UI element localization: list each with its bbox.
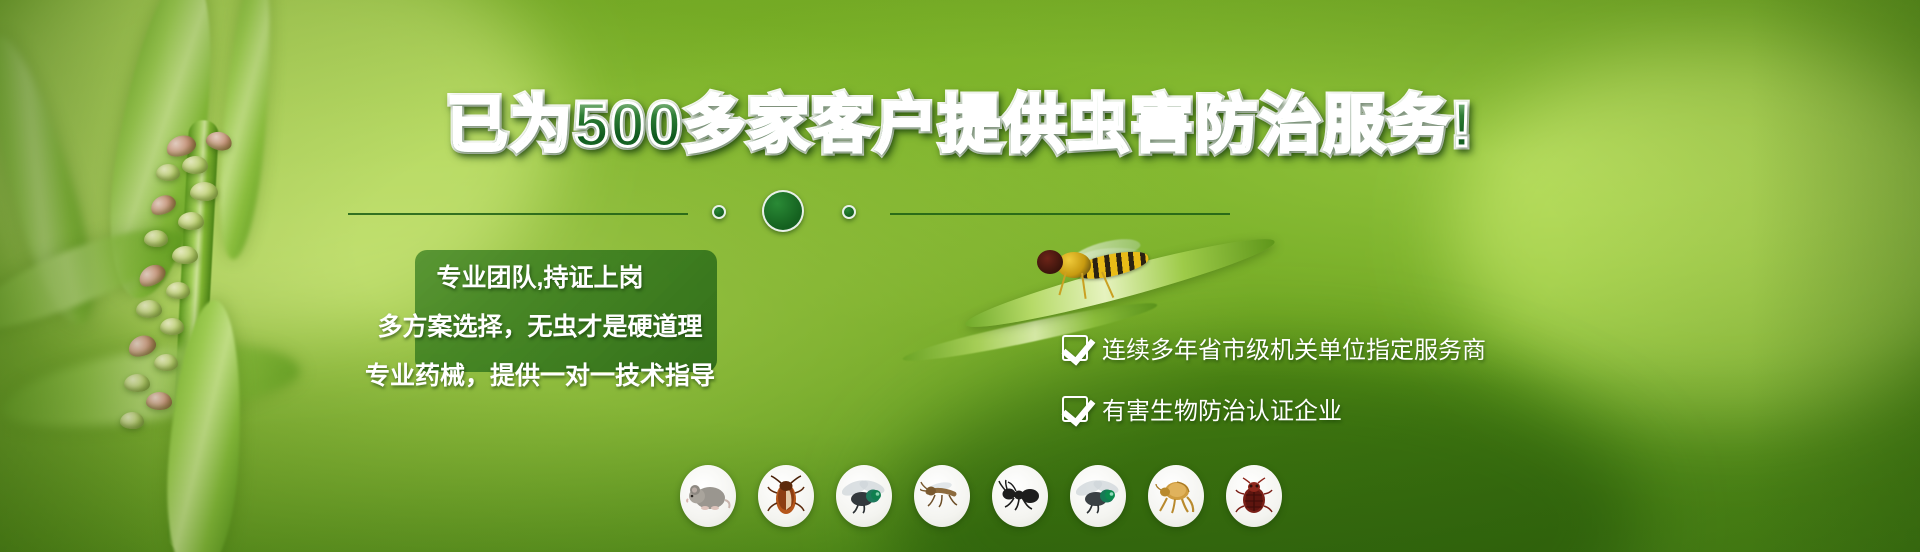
credential-text-2: 有害生物防治认证企业: [1102, 391, 1342, 426]
credentials-list: 连续多年省市级机关单位指定服务商 有害生物防治认证企业: [1062, 330, 1486, 452]
pest-icon-row: [680, 465, 1282, 527]
feature-line-3: 专业药械，提供一对一技术指导: [330, 356, 750, 392]
flea-icon[interactable]: [1148, 465, 1204, 527]
divider-line-right: [890, 213, 1230, 215]
divider-line-left: [348, 213, 688, 215]
blowfly-icon[interactable]: [1070, 465, 1126, 527]
feature-line-1: 专业团队,持证上岗: [330, 258, 750, 294]
mosquito-icon[interactable]: [914, 465, 970, 527]
bedbug-icon[interactable]: [1226, 465, 1282, 527]
checkbox-checked-icon: [1062, 335, 1088, 361]
ant-icon[interactable]: [992, 465, 1048, 527]
list-item: 连续多年省市级机关单位指定服务商: [1062, 330, 1486, 365]
feature-line-2: 多方案选择，无虫才是硬道理: [330, 307, 750, 343]
page-title: 已为500多家客户提供虫害防治服务!: [0, 74, 1920, 164]
fly-icon[interactable]: [836, 465, 892, 527]
list-item: 有害生物防治认证企业: [1062, 391, 1486, 426]
credential-text-1: 连续多年省市级机关单位指定服务商: [1102, 330, 1486, 365]
mouse-icon[interactable]: [680, 465, 736, 527]
ornament-dot-small-right: [842, 205, 856, 219]
cockroach-icon[interactable]: [758, 465, 814, 527]
ornament-dot-small-left: [712, 205, 726, 219]
checkbox-checked-icon: [1062, 396, 1088, 422]
pest-control-hero-banner: 已为500多家客户提供虫害防治服务! 已为500多家客户提供虫害防治服务! 专业…: [0, 0, 1920, 552]
feature-panel-text: 专业团队,持证上岗 多方案选择，无虫才是硬道理 专业药械，提供一对一技术指导: [330, 258, 750, 392]
ornament-dot-large-center: [762, 190, 804, 232]
